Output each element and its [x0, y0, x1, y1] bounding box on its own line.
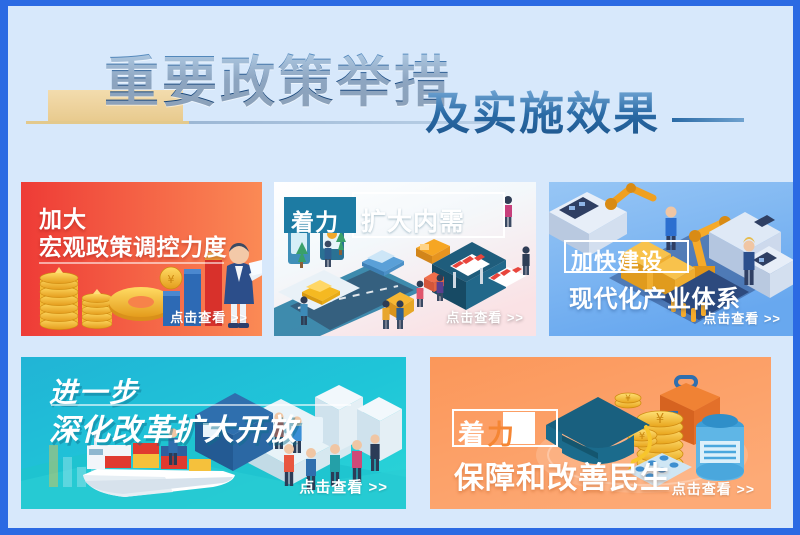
card-livelihood-line1-char1: 着 — [458, 420, 487, 450]
card-macro-policy-underline — [39, 262, 224, 264]
page-canvas: 重要政策举措 及实施效果 — [8, 6, 793, 528]
card-reform-opening-line2: 深化改革扩大开放 — [49, 405, 297, 449]
svg-text:¥: ¥ — [639, 431, 645, 442]
page-frame: 重要政策举措 及实施效果 — [0, 0, 800, 535]
card-modern-industrial-line1: 加快建设 — [571, 244, 663, 276]
card-domestic-demand-cta[interactable]: 点击查看 >> — [446, 307, 524, 326]
card-modern-industrial-system[interactable]: 加快建设 现代化产业体系 点击查看 >> — [549, 182, 793, 336]
card-macro-policy[interactable]: ¥ 加大 宏观政策调控力度 点击查看 >> — [21, 182, 262, 336]
card-reform-opening-cta[interactable]: 点击查看 >> — [299, 476, 388, 497]
svg-text:¥: ¥ — [625, 394, 631, 404]
card-livelihood-line1: 着力 — [458, 413, 516, 452]
card-macro-policy-line2: 宏观政策调控力度 — [39, 228, 227, 262]
card-domestic-demand[interactable]: 着力 扩大内需 点击查看 >> — [274, 182, 536, 336]
card-modern-industrial-cta[interactable]: 点击查看 >> — [703, 308, 781, 327]
title-main-text: 重要政策举措 — [104, 52, 452, 114]
card-livelihood-line2: 保障和改善民生 — [454, 453, 671, 497]
page-title: 重要政策举措 及实施效果 — [8, 40, 793, 160]
card-macro-policy-cta[interactable]: 点击查看 >> — [170, 307, 248, 326]
svg-text:¥: ¥ — [656, 412, 664, 427]
title-rule-right — [672, 118, 744, 122]
card-livelihood-line1-char2: 力 — [487, 420, 516, 450]
card-peoples-livelihood[interactable]: ¥ ¥ ¥ — [430, 357, 771, 509]
svg-text:¥: ¥ — [168, 273, 175, 286]
card-domestic-demand-line2: 扩大内需 — [361, 202, 465, 238]
card-reform-and-opening[interactable]: 进一步 深化改革扩大开放 点击查看 >> — [21, 357, 406, 509]
title-sub-text: 及实施效果 — [425, 88, 660, 140]
card-domestic-demand-line1: 着力 — [291, 203, 339, 237]
card-livelihood-cta[interactable]: 点击查看 >> — [672, 479, 755, 499]
